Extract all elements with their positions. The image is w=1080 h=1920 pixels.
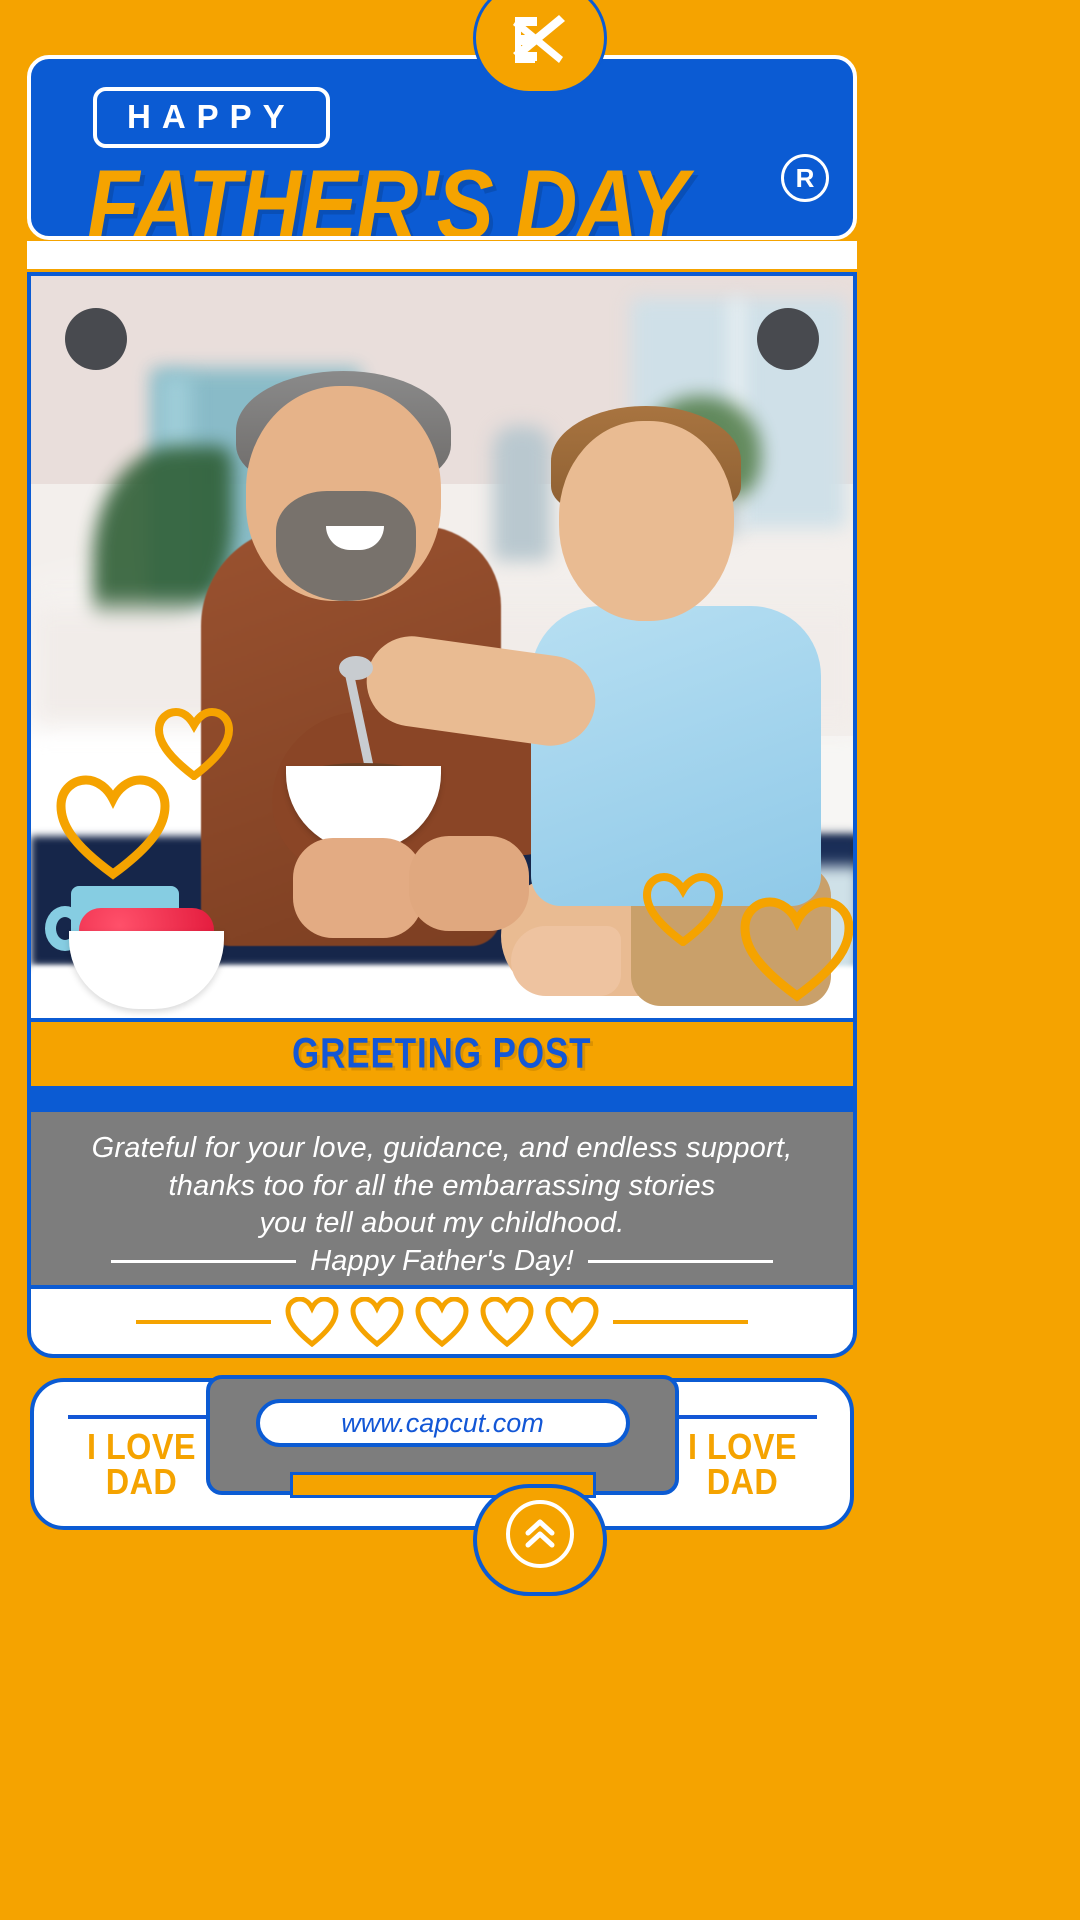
capcut-logo-icon	[509, 13, 571, 65]
photo-heart-icon	[155, 708, 233, 780]
hero-photo	[31, 276, 853, 1018]
header-kicker: HAPPY	[127, 100, 296, 133]
footer-rule-left	[68, 1415, 216, 1419]
url-text: www.capcut.com	[341, 1408, 544, 1439]
quote-box: Grateful for your love, guidance, and en…	[27, 1112, 857, 1285]
quote-signoff-row: Happy Father's Day!	[31, 1245, 853, 1278]
heart-outline-icon	[415, 1297, 469, 1347]
scroll-up-button[interactable]	[473, 1484, 607, 1596]
hearts-group	[285, 1297, 599, 1347]
blue-divider-strip	[27, 1086, 857, 1112]
heart-outline-icon	[480, 1297, 534, 1347]
photo-corner-dot-right	[757, 308, 819, 370]
quote-rule-left	[111, 1260, 296, 1263]
quote-line-3: you tell about my childhood.	[31, 1205, 853, 1243]
photo-heart-icon	[55, 774, 171, 880]
registered-mark-icon: R	[781, 154, 829, 202]
hearts-bar	[27, 1285, 857, 1358]
quote-line-2: thanks too for all the embarrassing stor…	[31, 1168, 853, 1206]
quote-line-1: Grateful for your love, guidance, and en…	[31, 1130, 853, 1168]
header-gap-strip	[27, 241, 857, 269]
scroll-up-circle	[506, 1500, 574, 1568]
hearts-rule-left	[136, 1320, 271, 1324]
url-pill[interactable]: www.capcut.com	[256, 1399, 630, 1447]
heart-outline-icon	[545, 1297, 599, 1347]
greeting-banner-label: GREETING POST	[292, 1030, 591, 1078]
hearts-rule-right	[613, 1320, 748, 1324]
page-title: FATHER'S DAY	[87, 155, 687, 240]
heart-outline-icon	[350, 1297, 404, 1347]
footer-rule-right	[669, 1415, 817, 1419]
photo-heart-icon	[643, 872, 723, 946]
hero-photo-frame	[27, 272, 857, 1022]
quote-rule-right	[588, 1260, 773, 1263]
photo-corner-dot-left	[65, 308, 127, 370]
capcut-logo-tab[interactable]	[473, 0, 607, 94]
photo-heart-icon	[739, 896, 855, 1002]
heart-outline-icon	[285, 1297, 339, 1347]
greeting-banner: GREETING POST	[27, 1022, 857, 1086]
happy-pill: HAPPY	[93, 87, 330, 148]
header-card: HAPPY FATHER'S DAY R	[27, 55, 857, 240]
double-chevron-up-icon	[520, 1514, 560, 1554]
quote-signoff: Happy Father's Day!	[310, 1245, 573, 1278]
